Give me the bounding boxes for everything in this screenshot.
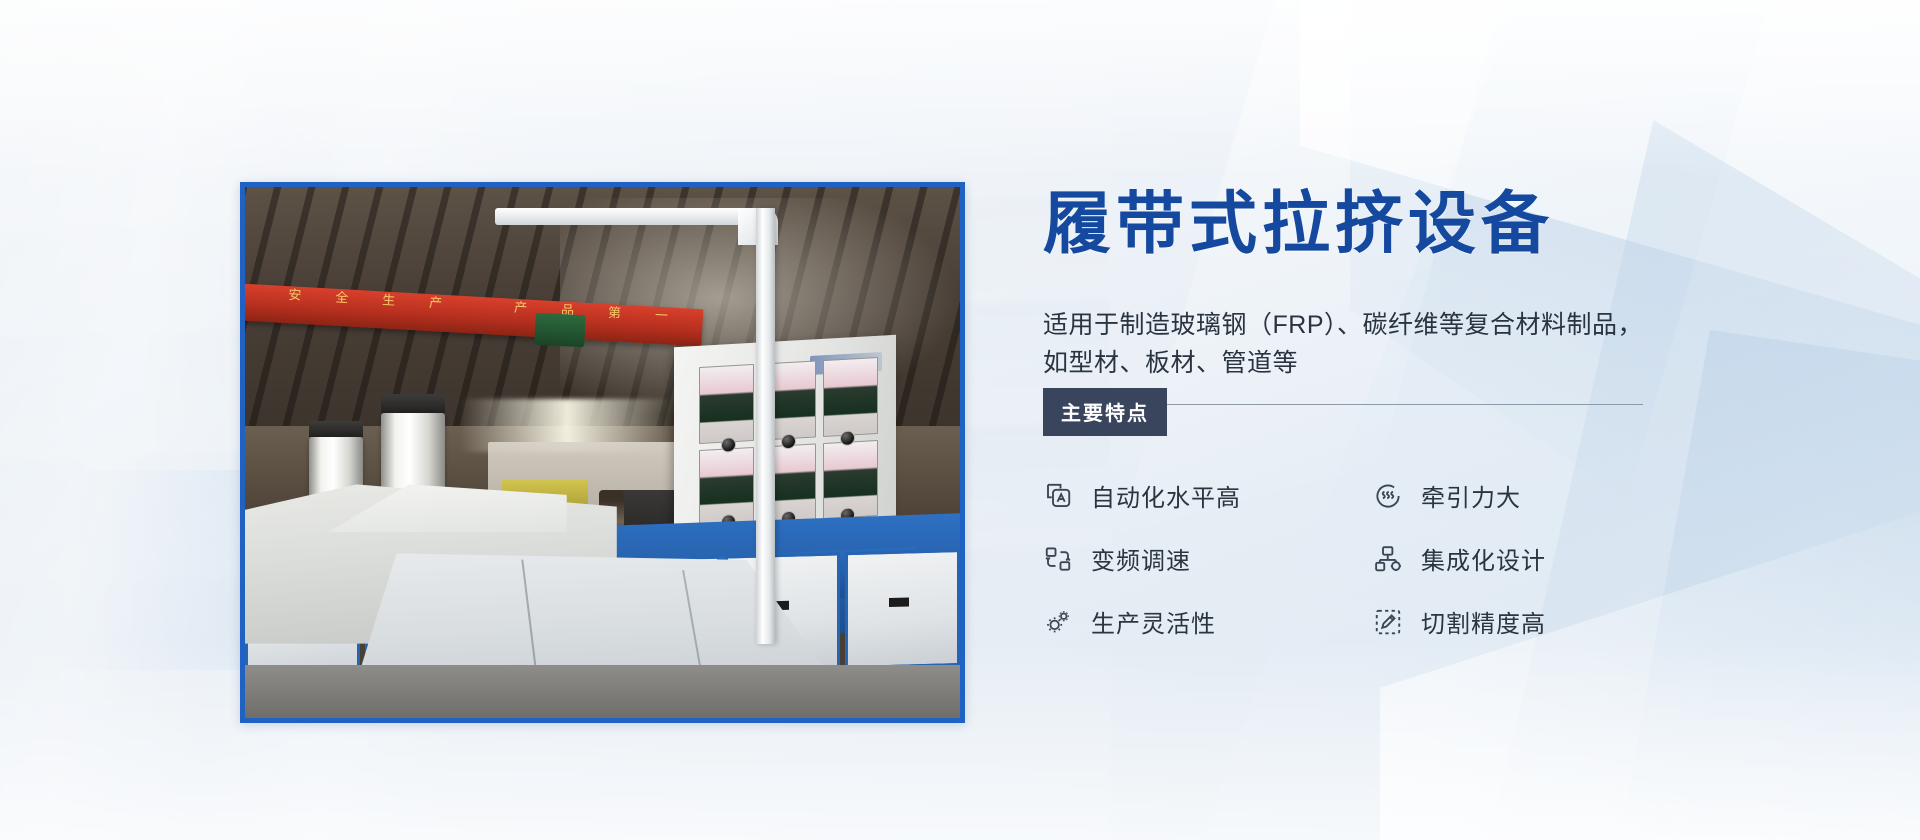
- product-photo: 安全生产 产品第一: [240, 182, 965, 723]
- photo-gantry-post: [756, 208, 775, 643]
- photo-knob: [781, 434, 796, 450]
- photo-cylinder-cap: [309, 421, 363, 437]
- traction-waves-icon: [1373, 481, 1403, 511]
- banner-content: 履带式拉挤设备 适用于制造玻璃钢（FRP）、碳纤维等复合材料制品，如型材、板材、…: [1043, 190, 1683, 639]
- photo-floor: [245, 665, 960, 718]
- feature-item-automation[interactable]: 自动化水平高: [1043, 478, 1373, 513]
- feature-label: 生产灵活性: [1091, 604, 1216, 639]
- photo-gantry-beam: [495, 208, 774, 225]
- status-badge: 主要特点: [1043, 388, 1167, 436]
- photo-knob: [840, 431, 855, 447]
- page-title: 履带式拉挤设备: [1043, 190, 1683, 258]
- feature-item-frequency[interactable]: 变频调速: [1043, 541, 1373, 576]
- feature-label: 变频调速: [1091, 541, 1191, 576]
- auto-translate-icon: [1043, 481, 1073, 511]
- feature-item-integration[interactable]: 集成化设计: [1373, 541, 1703, 576]
- photo-cabinet-door: [845, 549, 960, 669]
- frequency-nodes-icon: [1043, 544, 1073, 574]
- badge-row: 主要特点: [1043, 388, 1683, 436]
- feature-list: 自动化水平高 牵引力大: [1043, 478, 1683, 639]
- precision-pencil-icon: [1373, 607, 1403, 637]
- feature-item-cutting-precision[interactable]: 切割精度高: [1373, 604, 1703, 639]
- feature-label: 自动化水平高: [1091, 478, 1241, 513]
- banner-subtitle: 适用于制造玻璃钢（FRP）、碳纤维等复合材料制品，如型材、板材、管道等: [1043, 306, 1643, 382]
- feature-label: 切割精度高: [1421, 604, 1546, 639]
- photo-knob: [721, 437, 736, 453]
- feature-label: 集成化设计: [1421, 541, 1546, 576]
- feature-item-flexibility[interactable]: 生产灵活性: [1043, 604, 1373, 639]
- feature-label: 牵引力大: [1421, 478, 1521, 513]
- photo-crane-hoist: [534, 313, 586, 347]
- feature-item-traction[interactable]: 牵引力大: [1373, 478, 1703, 513]
- photo-meter: [823, 357, 878, 437]
- photo-meter: [699, 364, 754, 444]
- photo-cylinder-cap: [381, 394, 445, 413]
- product-photo-image: 安全生产 产品第一: [245, 187, 960, 718]
- background-top-highlight: [0, 0, 1920, 180]
- gears-icon: [1043, 607, 1073, 637]
- integration-tree-icon: [1373, 544, 1403, 574]
- product-banner: 安全生产 产品第一: [0, 0, 1920, 840]
